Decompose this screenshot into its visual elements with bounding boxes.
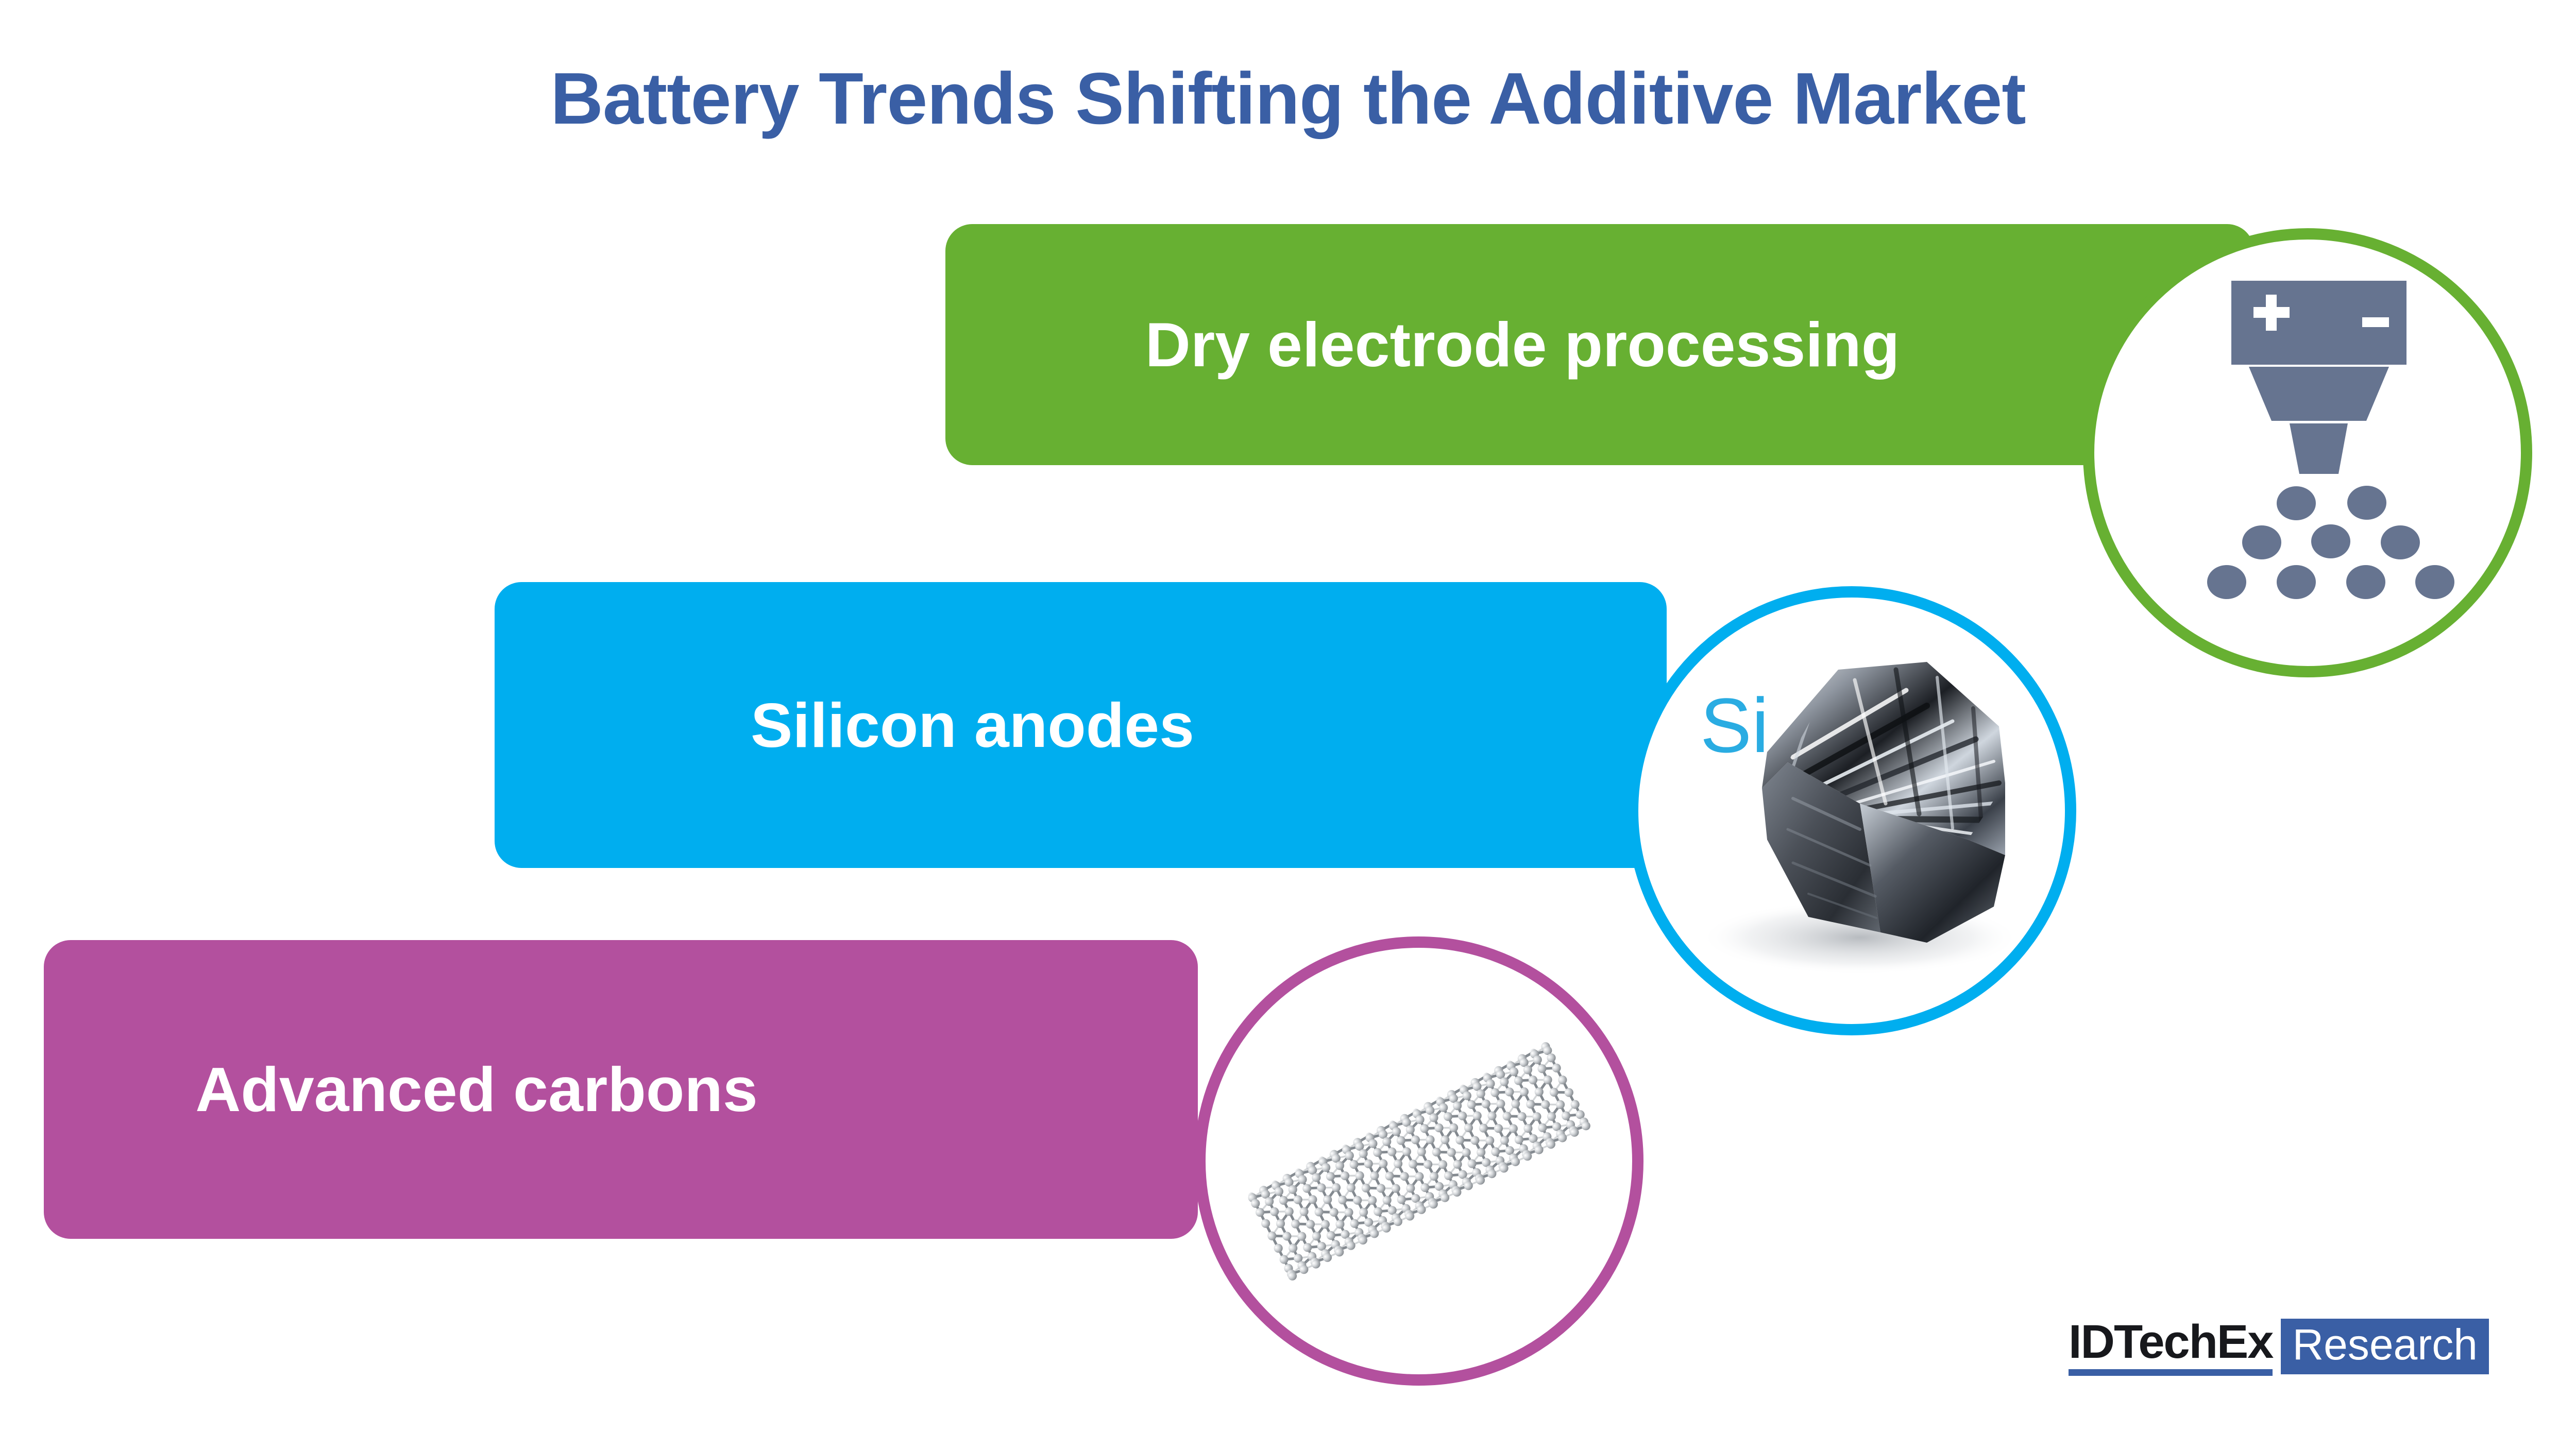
carbon-nanotube-icon (1206, 948, 1632, 1374)
trend-label-silicon-anodes: Silicon anodes (751, 694, 1194, 757)
logo-name-block: IDTechEx (2069, 1319, 2273, 1384)
slide-canvas: Battery Trends Shifting the Additive Mar… (0, 0, 2576, 1449)
silicon-symbol-label: Si (1700, 682, 1769, 769)
page-title: Battery Trends Shifting the Additive Mar… (0, 57, 2576, 141)
logo-product-badge: Research (2281, 1319, 2489, 1374)
trend-label-advanced-carbons: Advanced carbons (195, 1058, 758, 1121)
trend-icon-circle-silicon-anodes: Si (1627, 586, 2076, 1035)
logo-company-name: IDTechEx (2069, 1319, 2273, 1365)
trend-icon-circle-advanced-carbons (1194, 936, 1643, 1386)
idtechex-research-logo: IDTechEx Research (2069, 1319, 2489, 1384)
trend-label-dry-electrode-processing: Dry electrode processing (1145, 313, 1900, 376)
trend-icon-circle-dry-electrode-processing (2083, 228, 2532, 677)
dry-electrode-powder-icon (2094, 240, 2521, 666)
trend-bar-advanced-carbons[interactable]: Advanced carbons (44, 940, 1198, 1239)
trend-bar-silicon-anodes[interactable]: Silicon anodes (495, 582, 1667, 868)
silicon-crystal-icon: Si (1638, 598, 2065, 1024)
logo-underline-rule (2069, 1369, 2273, 1376)
trend-bar-dry-electrode-processing[interactable]: Dry electrode processing (945, 224, 2254, 465)
